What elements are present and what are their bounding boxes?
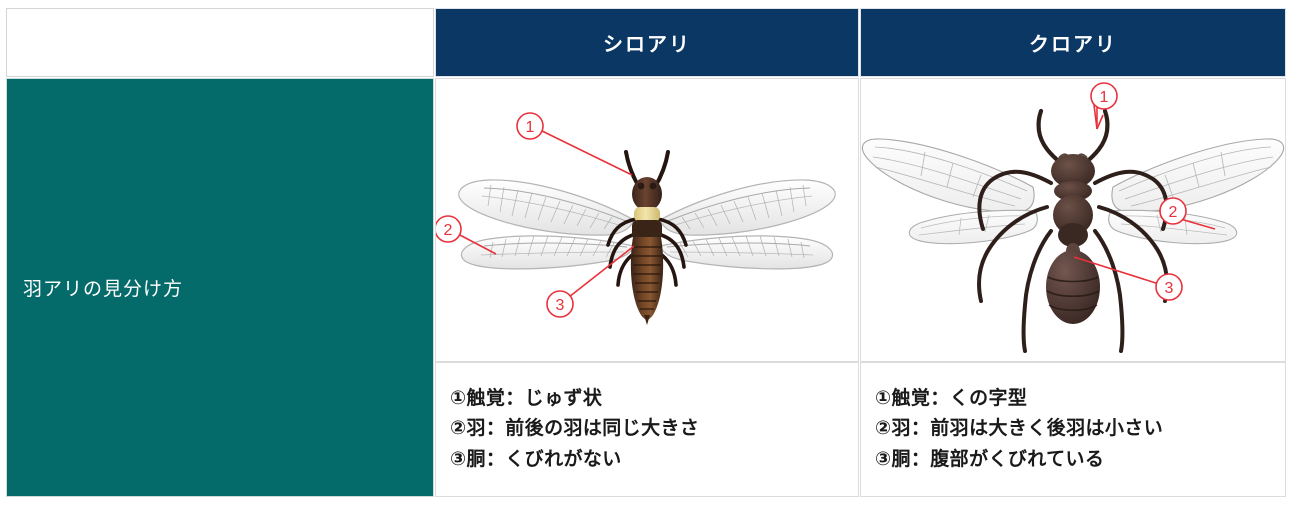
ant-body <box>1046 154 1100 324</box>
ant-callout-1: 1 <box>1091 83 1117 129</box>
header-cell-termite: シロアリ <box>435 8 859 77</box>
comparison-table: シロアリ クロアリ 羽アリの見分け方 <box>6 8 1286 497</box>
header-blank-cell <box>6 8 434 77</box>
black-ant-trait-list: ①触覚：くの字型 ②羽：前羽は大きく後羽は小さい ③胴：腹部がくびれている <box>861 384 1163 474</box>
description-cell-black-ant: ①触覚：くの字型 ②羽：前羽は大きく後羽は小さい ③胴：腹部がくびれている <box>860 362 1286 497</box>
termite-trait-antenna: ①触覚：じゅず状 <box>450 384 699 414</box>
termite-trait-body: ③胴：くびれがない <box>450 445 699 475</box>
svg-text:1: 1 <box>526 119 535 136</box>
svg-text:2: 2 <box>444 222 453 239</box>
termite-callout-1: 1 <box>517 113 632 175</box>
termite-body <box>631 177 663 325</box>
termite-wing-upper-left <box>459 180 634 235</box>
figure-cell-black-ant: 1 2 3 <box>860 78 1286 362</box>
termite-trait-wings: ②羽：前後の羽は同じ大きさ <box>450 414 699 444</box>
black-ant-trait-wings: ②羽：前羽は大きく後羽は小さい <box>875 414 1163 444</box>
figure-cell-termite: 1 2 3 <box>435 78 859 362</box>
svg-text:3: 3 <box>1165 280 1174 297</box>
ant-forewing-right <box>1112 139 1284 212</box>
svg-text:3: 3 <box>556 297 565 314</box>
svg-text:1: 1 <box>1100 89 1109 106</box>
termite-wing-upper-right <box>660 180 835 235</box>
black-ant-trait-antenna: ①触覚：くの字型 <box>875 384 1163 414</box>
row-label-text: 羽アリの見分け方 <box>7 274 183 301</box>
ant-hindwing-left <box>909 210 1037 243</box>
slide-canvas: シロアリ クロアリ 羽アリの見分け方 <box>0 0 1299 507</box>
header-cell-black-ant: クロアリ <box>860 8 1286 77</box>
description-cell-termite: ①触覚：じゅず状 ②羽：前後の羽は同じ大きさ ③胴：くびれがない <box>435 362 859 497</box>
black-ant-illustration: 1 2 3 <box>861 79 1285 361</box>
header-label-termite: シロアリ <box>603 28 691 57</box>
row-label-cell: 羽アリの見分け方 <box>6 78 434 497</box>
termite-trait-list: ①触覚：じゅず状 ②羽：前後の羽は同じ大きさ ③胴：くびれがない <box>436 384 699 474</box>
black-ant-trait-body: ③胴：腹部がくびれている <box>875 445 1163 475</box>
svg-text:2: 2 <box>1169 204 1178 221</box>
header-label-black-ant: クロアリ <box>1029 28 1117 57</box>
termite-illustration: 1 2 3 <box>436 79 858 361</box>
ant-forewing-left <box>862 139 1034 212</box>
